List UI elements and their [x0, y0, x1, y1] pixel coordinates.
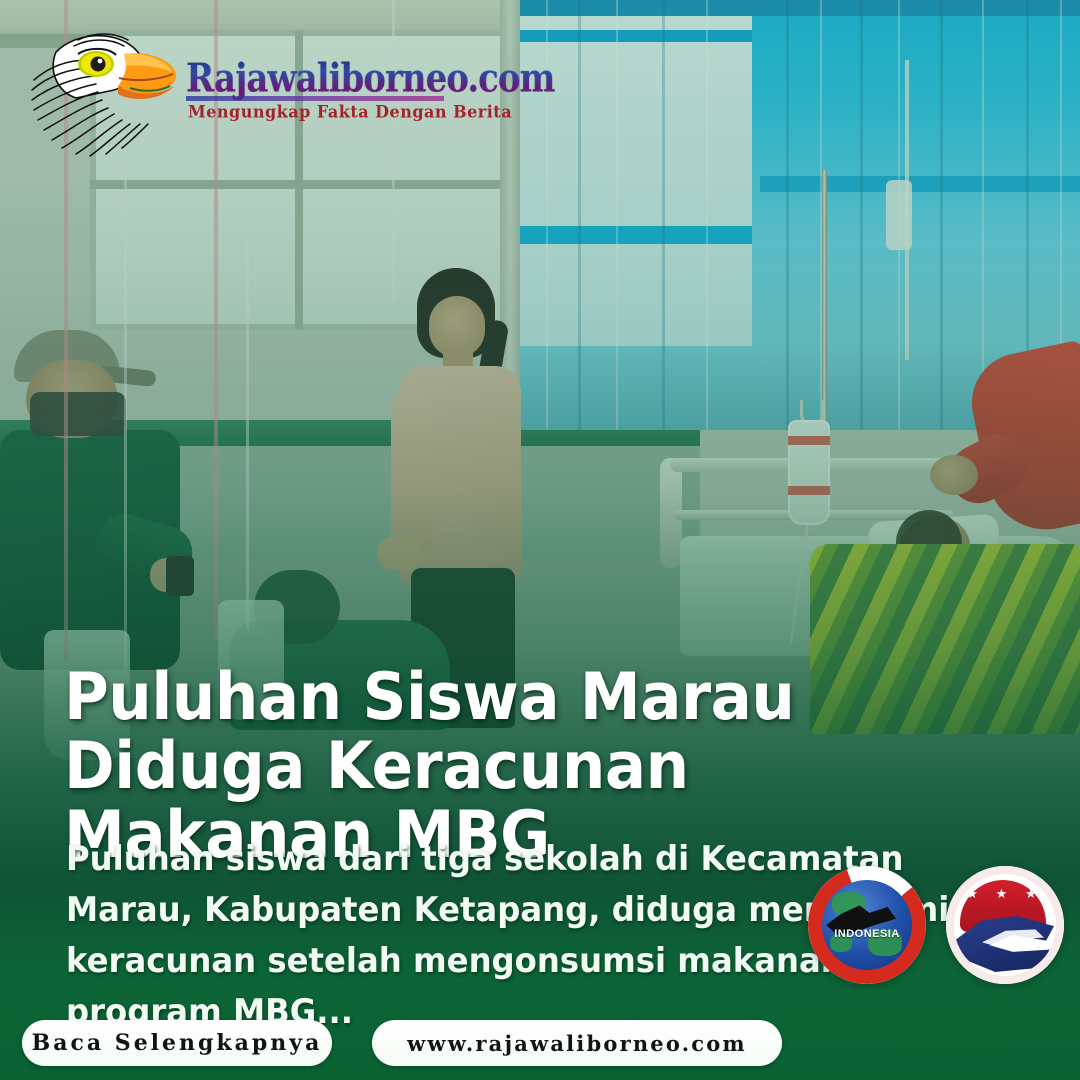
- website-label: www.rajawaliborneo.com: [407, 1031, 747, 1056]
- logo-divider: [186, 96, 444, 101]
- badge-label: INDONESIA: [822, 928, 912, 940]
- news-poster: Rajawaliborneo.com Mengungkap Fakta Deng…: [0, 0, 1080, 1080]
- jmsi-indonesia-badge: INDONESIA: [808, 866, 926, 984]
- globe-bird-icon: INDONESIA: [822, 880, 912, 970]
- affiliation-badges: INDONESIA ★ ★ ★: [808, 866, 1064, 984]
- eagle-swoosh-icon: ★ ★ ★: [954, 874, 1056, 976]
- website-link[interactable]: www.rajawaliborneo.com: [372, 1020, 782, 1066]
- spri-eagle-badge: ★ ★ ★: [946, 866, 1064, 984]
- read-more-button[interactable]: Baca Selengkapnya: [22, 1020, 332, 1066]
- logo-tagline: Mengungkap Fakta Dengan Berita: [188, 102, 512, 122]
- read-more-label: Baca Selengkapnya: [32, 1030, 323, 1056]
- footer-bar: Baca Selengkapnya www.rajawaliborneo.com: [0, 1008, 1080, 1080]
- badge-stars: ★ ★ ★: [954, 886, 1056, 902]
- site-logo[interactable]: Rajawaliborneo.com Mengungkap Fakta Deng…: [18, 18, 448, 158]
- eagle-head-icon: [18, 18, 188, 158]
